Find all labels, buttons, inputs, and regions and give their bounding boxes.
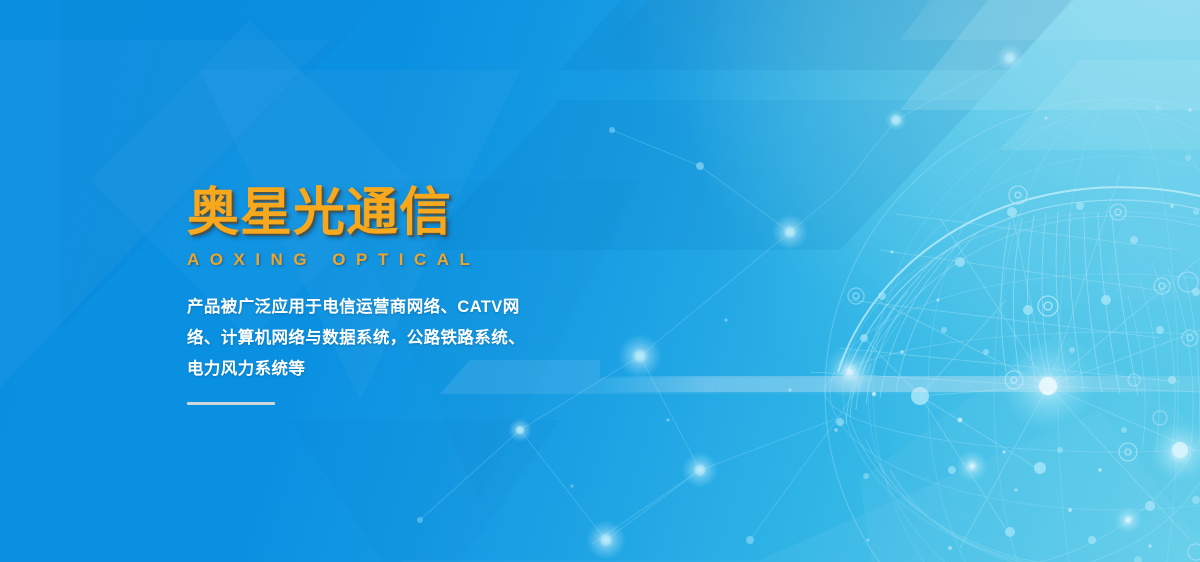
hero-banner: 奥星光通信 AOXING OPTICAL 产品被广泛应用于电信运营商网络、CAT… xyxy=(0,0,1200,562)
page-subtitle: AOXING OPTICAL xyxy=(187,250,657,270)
page-title: 奥星光通信 xyxy=(187,186,657,241)
accent-divider xyxy=(187,402,275,405)
description-line-2: 络、计算机网络与数据系统，公路铁路系统、 xyxy=(187,323,605,354)
banner-text-block: 奥星光通信 AOXING OPTICAL 产品被广泛应用于电信运营商网络、CAT… xyxy=(187,186,657,405)
banner-description: 产品被广泛应用于电信运营商网络、CATV网 络、计算机网络与数据系统，公路铁路系… xyxy=(187,292,605,385)
description-line-3: 电力风力系统等 xyxy=(187,354,605,385)
description-line-1: 产品被广泛应用于电信运营商网络、CATV网 xyxy=(187,292,605,323)
